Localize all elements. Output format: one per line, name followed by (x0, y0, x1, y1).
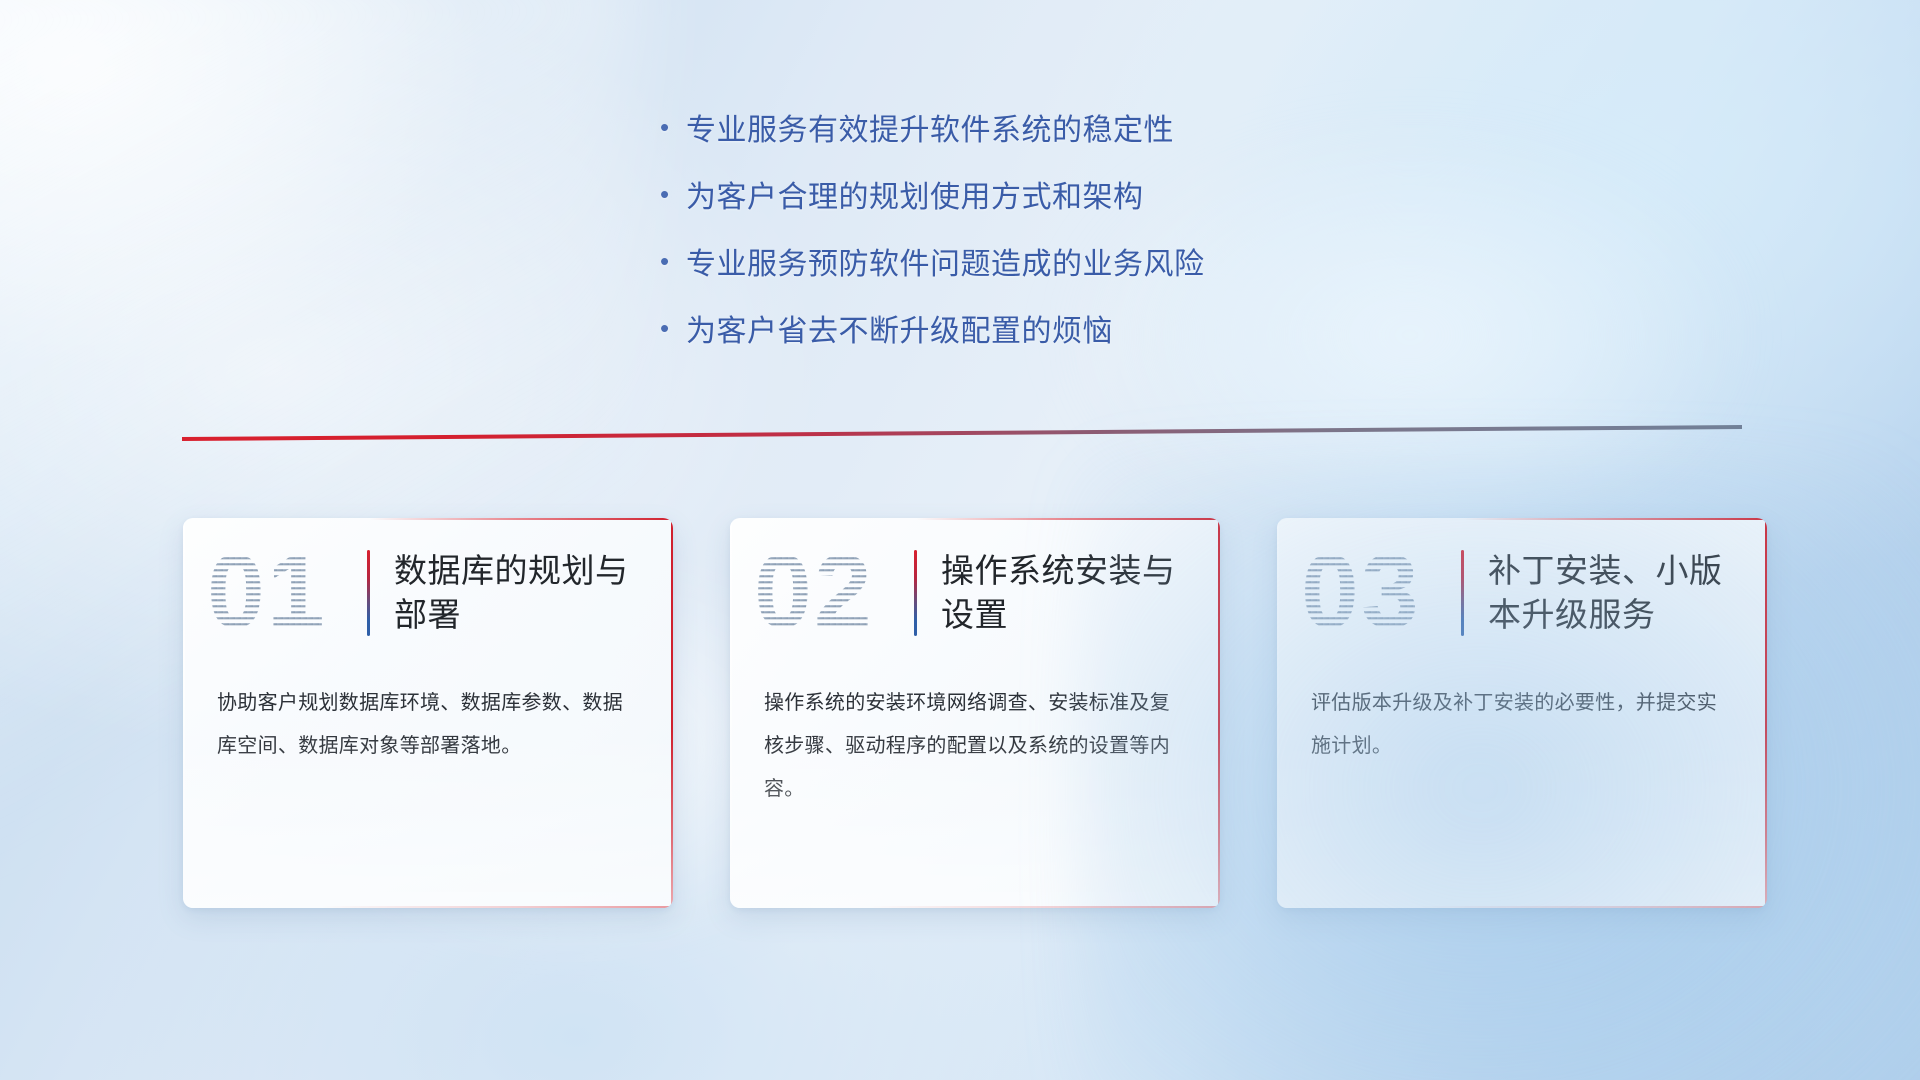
list-item: • 为客户合理的规划使用方式和架构 (660, 175, 1420, 220)
card-title: 数据库的规划与部署 (394, 549, 647, 636)
bullet-dot-icon: • (660, 242, 686, 280)
card-number-03: 03 (1299, 539, 1449, 647)
card-title-separator (367, 550, 370, 636)
bullet-text: 专业服务预防软件问题造成的业务风险 (686, 242, 1420, 287)
list-item: • 专业服务有效提升软件系统的稳定性 (660, 108, 1420, 153)
list-item: • 为客户省去不断升级配置的烦恼 (660, 309, 1420, 354)
service-card-03[interactable]: 03 补丁安装、小版本升级服务 评估版本升级及补丁安装的必要性，并提交实施计划。 (1277, 518, 1767, 908)
bullet-text: 专业服务有效提升软件系统的稳定性 (686, 108, 1420, 153)
service-card-02[interactable]: 02 操作系统安装与设置 操作系统的安装环境网络调查、安装标准及复核步骤、驱动程… (730, 518, 1220, 908)
card-title: 补丁安装、小版本升级服务 (1488, 549, 1741, 636)
card-title-separator (1461, 550, 1464, 636)
card-description: 评估版本升级及补丁安装的必要性，并提交实施计划。 (1277, 668, 1767, 768)
bullet-dot-icon: • (660, 175, 686, 213)
card-description: 操作系统的安装环境网络调查、安装标准及复核步骤、驱动程序的配置以及系统的设置等内… (730, 668, 1220, 811)
slide-canvas: • 专业服务有效提升软件系统的稳定性 • 为客户合理的规划使用方式和架构 • 专… (0, 0, 1920, 1080)
bullet-dot-icon: • (660, 309, 686, 347)
bullet-text: 为客户合理的规划使用方式和架构 (686, 175, 1420, 220)
card-accent-bottom (183, 906, 673, 908)
list-item: • 专业服务预防软件问题造成的业务风险 (660, 242, 1420, 287)
card-header: 01 数据库的规划与部署 (183, 518, 673, 668)
card-title: 操作系统安装与设置 (941, 549, 1194, 636)
svg-text:01: 01 (207, 539, 327, 647)
card-header: 02 操作系统安装与设置 (730, 518, 1220, 668)
service-card-group: 01 数据库的规划与部署 协助客户规划数据库环境、数据库参数、数据库空间、数据库… (183, 518, 1767, 918)
service-card-01[interactable]: 01 数据库的规划与部署 协助客户规划数据库环境、数据库参数、数据库空间、数据库… (183, 518, 673, 908)
section-divider (182, 424, 1742, 446)
bullet-dot-icon: • (660, 108, 686, 146)
svg-text:03: 03 (1301, 539, 1421, 647)
card-header: 03 补丁安装、小版本升级服务 (1277, 518, 1767, 668)
card-accent-bottom (1277, 906, 1767, 908)
card-description: 协助客户规划数据库环境、数据库参数、数据库空间、数据库对象等部署落地。 (183, 668, 673, 768)
card-accent-bottom (730, 906, 1220, 908)
card-title-separator (914, 550, 917, 636)
card-number-01: 01 (205, 539, 355, 647)
benefits-bullet-list: • 专业服务有效提升软件系统的稳定性 • 为客户合理的规划使用方式和架构 • 专… (660, 108, 1420, 376)
svg-text:02: 02 (754, 539, 874, 647)
bullet-text: 为客户省去不断升级配置的烦恼 (686, 309, 1420, 354)
card-number-02: 02 (752, 539, 902, 647)
